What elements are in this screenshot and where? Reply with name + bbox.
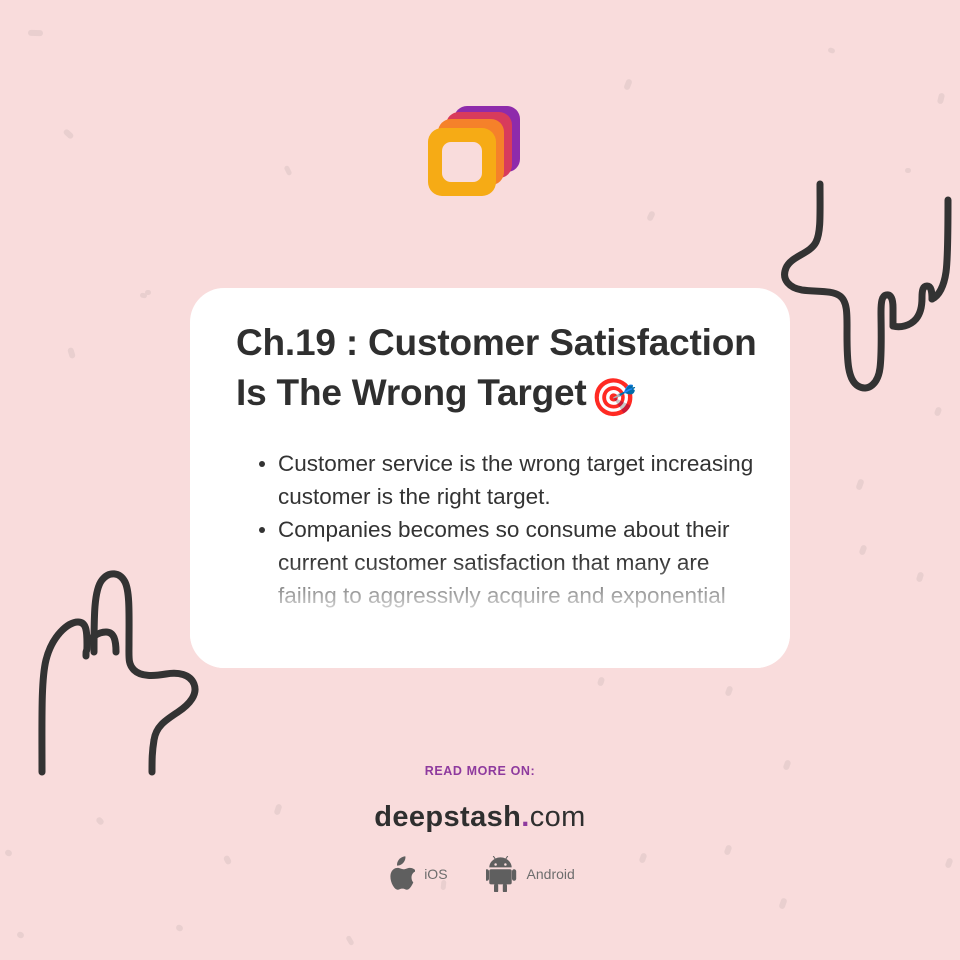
card-title-text: Ch.19 : Customer Satisfaction Is The Wro… — [236, 322, 757, 413]
list-item: Companies becomes so consume about their… — [259, 513, 758, 612]
android-icon — [486, 856, 518, 892]
card-bullet-list: Customer service is the wrong target inc… — [236, 447, 758, 612]
idea-card[interactable]: Ch.19 : Customer Satisfaction Is The Wro… — [190, 288, 790, 668]
android-store-badge[interactable]: Android — [486, 856, 575, 892]
confetti-dash — [724, 685, 733, 696]
confetti-dash — [28, 30, 43, 37]
confetti-dash — [623, 78, 633, 90]
confetti-dash — [597, 676, 605, 686]
confetti-dash — [916, 571, 925, 582]
deepstash-wordmark[interactable]: deepstash.com — [0, 801, 960, 834]
ios-store-label: iOS — [424, 866, 447, 882]
confetti-dash — [858, 544, 867, 555]
wordmark-dot: . — [521, 801, 529, 833]
deepstash-logo-icon — [428, 106, 520, 196]
direct-hit-target-emoji: 🎯 — [590, 373, 636, 423]
confetti-dash — [855, 478, 864, 490]
confetti-dash — [284, 165, 293, 176]
confetti-dash — [827, 47, 835, 54]
logo-center-hole — [442, 142, 482, 182]
card-content: Ch.19 : Customer Satisfaction Is The Wro… — [190, 288, 790, 612]
logo-layer-front — [428, 128, 496, 196]
confetti-dash — [140, 292, 148, 298]
confetti-dash — [175, 924, 184, 933]
store-badges: iOS Android — [0, 856, 960, 892]
confetti-dash — [934, 406, 943, 417]
confetti-dash — [646, 210, 656, 222]
confetti-dash — [778, 897, 787, 909]
list-item: Customer service is the wrong target inc… — [259, 447, 758, 513]
confetti-dash — [345, 935, 354, 946]
confetti-dash — [145, 290, 151, 295]
ios-store-badge[interactable]: iOS — [385, 856, 447, 892]
footer: READ MORE ON: deepstash.com iOS — [0, 764, 960, 892]
apple-icon — [385, 856, 415, 892]
read-more-label: READ MORE ON: — [0, 764, 960, 778]
confetti-dash — [16, 931, 25, 940]
confetti-dash — [937, 92, 945, 104]
deepstash-card-graphic: Ch.19 : Customer Satisfaction Is The Wro… — [0, 0, 960, 960]
android-store-label: Android — [527, 866, 575, 882]
wordmark-tld: com — [530, 801, 586, 833]
card-title: Ch.19 : Customer Satisfaction Is The Wro… — [236, 318, 758, 423]
confetti-dash — [905, 168, 911, 173]
confetti-dash — [62, 128, 74, 140]
confetti-dash — [67, 347, 76, 359]
wordmark-name: deepstash — [374, 801, 521, 833]
pointing-hand-up-icon — [24, 560, 214, 780]
